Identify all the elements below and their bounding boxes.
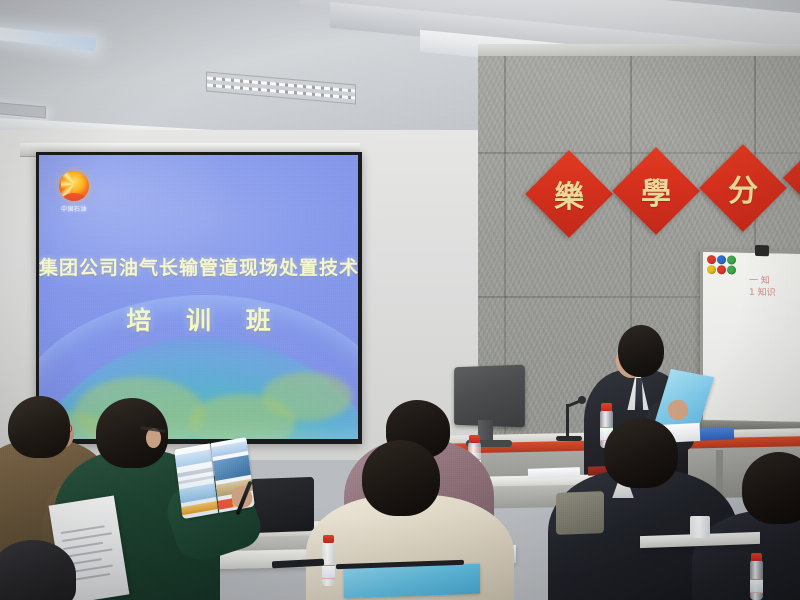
bottle-cap (751, 553, 762, 561)
bottle-cap (469, 435, 480, 443)
bottle-label (750, 579, 763, 593)
wall-banner-diamond: 樂 (525, 150, 613, 238)
attendee-head (604, 418, 678, 488)
cyan-folder (344, 564, 480, 599)
microphone-head (578, 396, 586, 404)
cnpc-sunburst-logo-icon (59, 171, 89, 201)
water-bottle (750, 560, 763, 600)
chair-backrest (556, 491, 604, 535)
slide-logo-caption: 中国石油 (51, 204, 97, 213)
whiteboard-magnets (707, 255, 736, 275)
wall-banner-char: 學 (625, 160, 687, 222)
bottle-label (322, 565, 335, 579)
blue-folder-on-desk (700, 427, 734, 440)
wall-banner-diamond: 分 (699, 144, 787, 232)
presenter-head (618, 325, 664, 377)
projected-slide: 中国石油 集团公司油气长输管道现场处置技术 培 训 班 (39, 155, 358, 439)
slide-title: 集团公司油气长输管道现场处置技术 (39, 253, 358, 280)
whiteboard: 一 知 1 知识 (700, 249, 800, 427)
whiteboard-clip (755, 245, 769, 256)
paper-cup (690, 516, 710, 538)
microphone-stem (566, 404, 569, 438)
wall-banner-char: 享 (792, 156, 800, 200)
wall-banner-diamond: 學 (612, 147, 700, 235)
monitor-rear-panel (454, 365, 525, 428)
conference-room-photo: 樂 學 分 享 一 知 1 知识 中国石油 集团公司油气长输管道 (0, 0, 800, 600)
attendee-head (362, 440, 440, 516)
papers-on-desk (528, 467, 580, 479)
monitor-stand-neck (478, 420, 493, 442)
attendee-head (742, 452, 800, 524)
projector-screen: 中国石油 集团公司油气长输管道现场处置技术 培 训 班 (36, 152, 362, 444)
slide-logo: 中国石油 (51, 171, 97, 213)
bottle-cap (323, 535, 334, 543)
whiteboard-writing: 一 知 1 知识 (749, 275, 800, 300)
wall-banner-char: 樂 (538, 163, 600, 225)
microphone-base (556, 436, 582, 441)
lcd-monitor (452, 366, 524, 426)
bottle-cap (601, 403, 612, 411)
attendee-head (8, 396, 70, 458)
wall-banner-char: 分 (712, 157, 774, 219)
